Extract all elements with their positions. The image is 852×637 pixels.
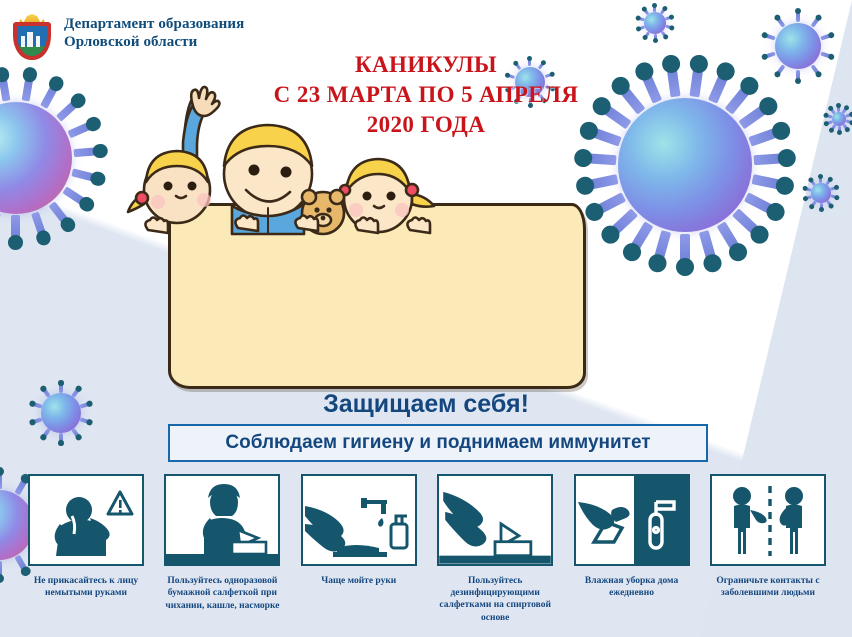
no-face-touching-icon [28,474,144,566]
prevention-item-2: Пользуйтесь одноразовой бумажной салфетк… [158,474,286,624]
prevention-caption-3: Чаще мойте руки [321,575,396,587]
poster-canvas: Департамент образования Орловской област… [0,0,852,637]
virus-particle-blob-right-b [806,178,836,208]
virus-particle-blob-top-left [638,6,672,40]
prevention-item-4: Пользуйтесь дезинфицирующими салфетками … [431,474,559,624]
prevention-item-6: Ограничьте контакты с заболевшими людьми [704,474,832,624]
wash-hands-icon [301,474,417,566]
prevention-icon-row: Не прикасайтесь к лицу немытыми руками [22,474,832,624]
prevention-item-3: Чаще мойте руки [295,474,423,624]
prevention-caption-2: Пользуйтесь одноразовой бумажной салфетк… [158,575,286,612]
header-line-2: Орловской области [64,33,244,51]
oryol-oblast-coat-of-arms-icon [10,12,54,62]
cover-cough-tissue-icon [164,474,280,566]
prevention-caption-5: Влажная уборка дома ежедневно [568,575,696,600]
slogan-headline: Защищаем себя! [0,390,852,419]
prevention-item-1: Не прикасайтесь к лицу немытыми руками [22,474,150,624]
prevention-caption-4: Пользуйтесь дезинфицирующими салфетками … [431,575,559,624]
clean-surfaces-spray-icon [574,474,690,566]
disinfecting-wipes-icon [437,474,553,566]
header: Департамент образования Орловской област… [10,12,244,62]
slogan-boxed-text: Соблюдаем гигиену и поднимаем иммунитет [225,432,650,454]
prevention-item-5: Влажная уборка дома ежедневно [568,474,696,624]
header-titles: Департамент образования Орловской област… [64,12,244,52]
children-illustration [120,78,480,238]
prevention-caption-6: Ограничьте контакты с заболевшими людьми [704,575,832,600]
prevention-caption-1: Не прикасайтесь к лицу немытыми руками [22,575,150,600]
limit-contact-distance-icon [710,474,826,566]
slogan-boxed-banner: Соблюдаем гигиену и поднимаем иммунитет [168,424,708,462]
header-line-1: Департамент образования [64,15,244,33]
